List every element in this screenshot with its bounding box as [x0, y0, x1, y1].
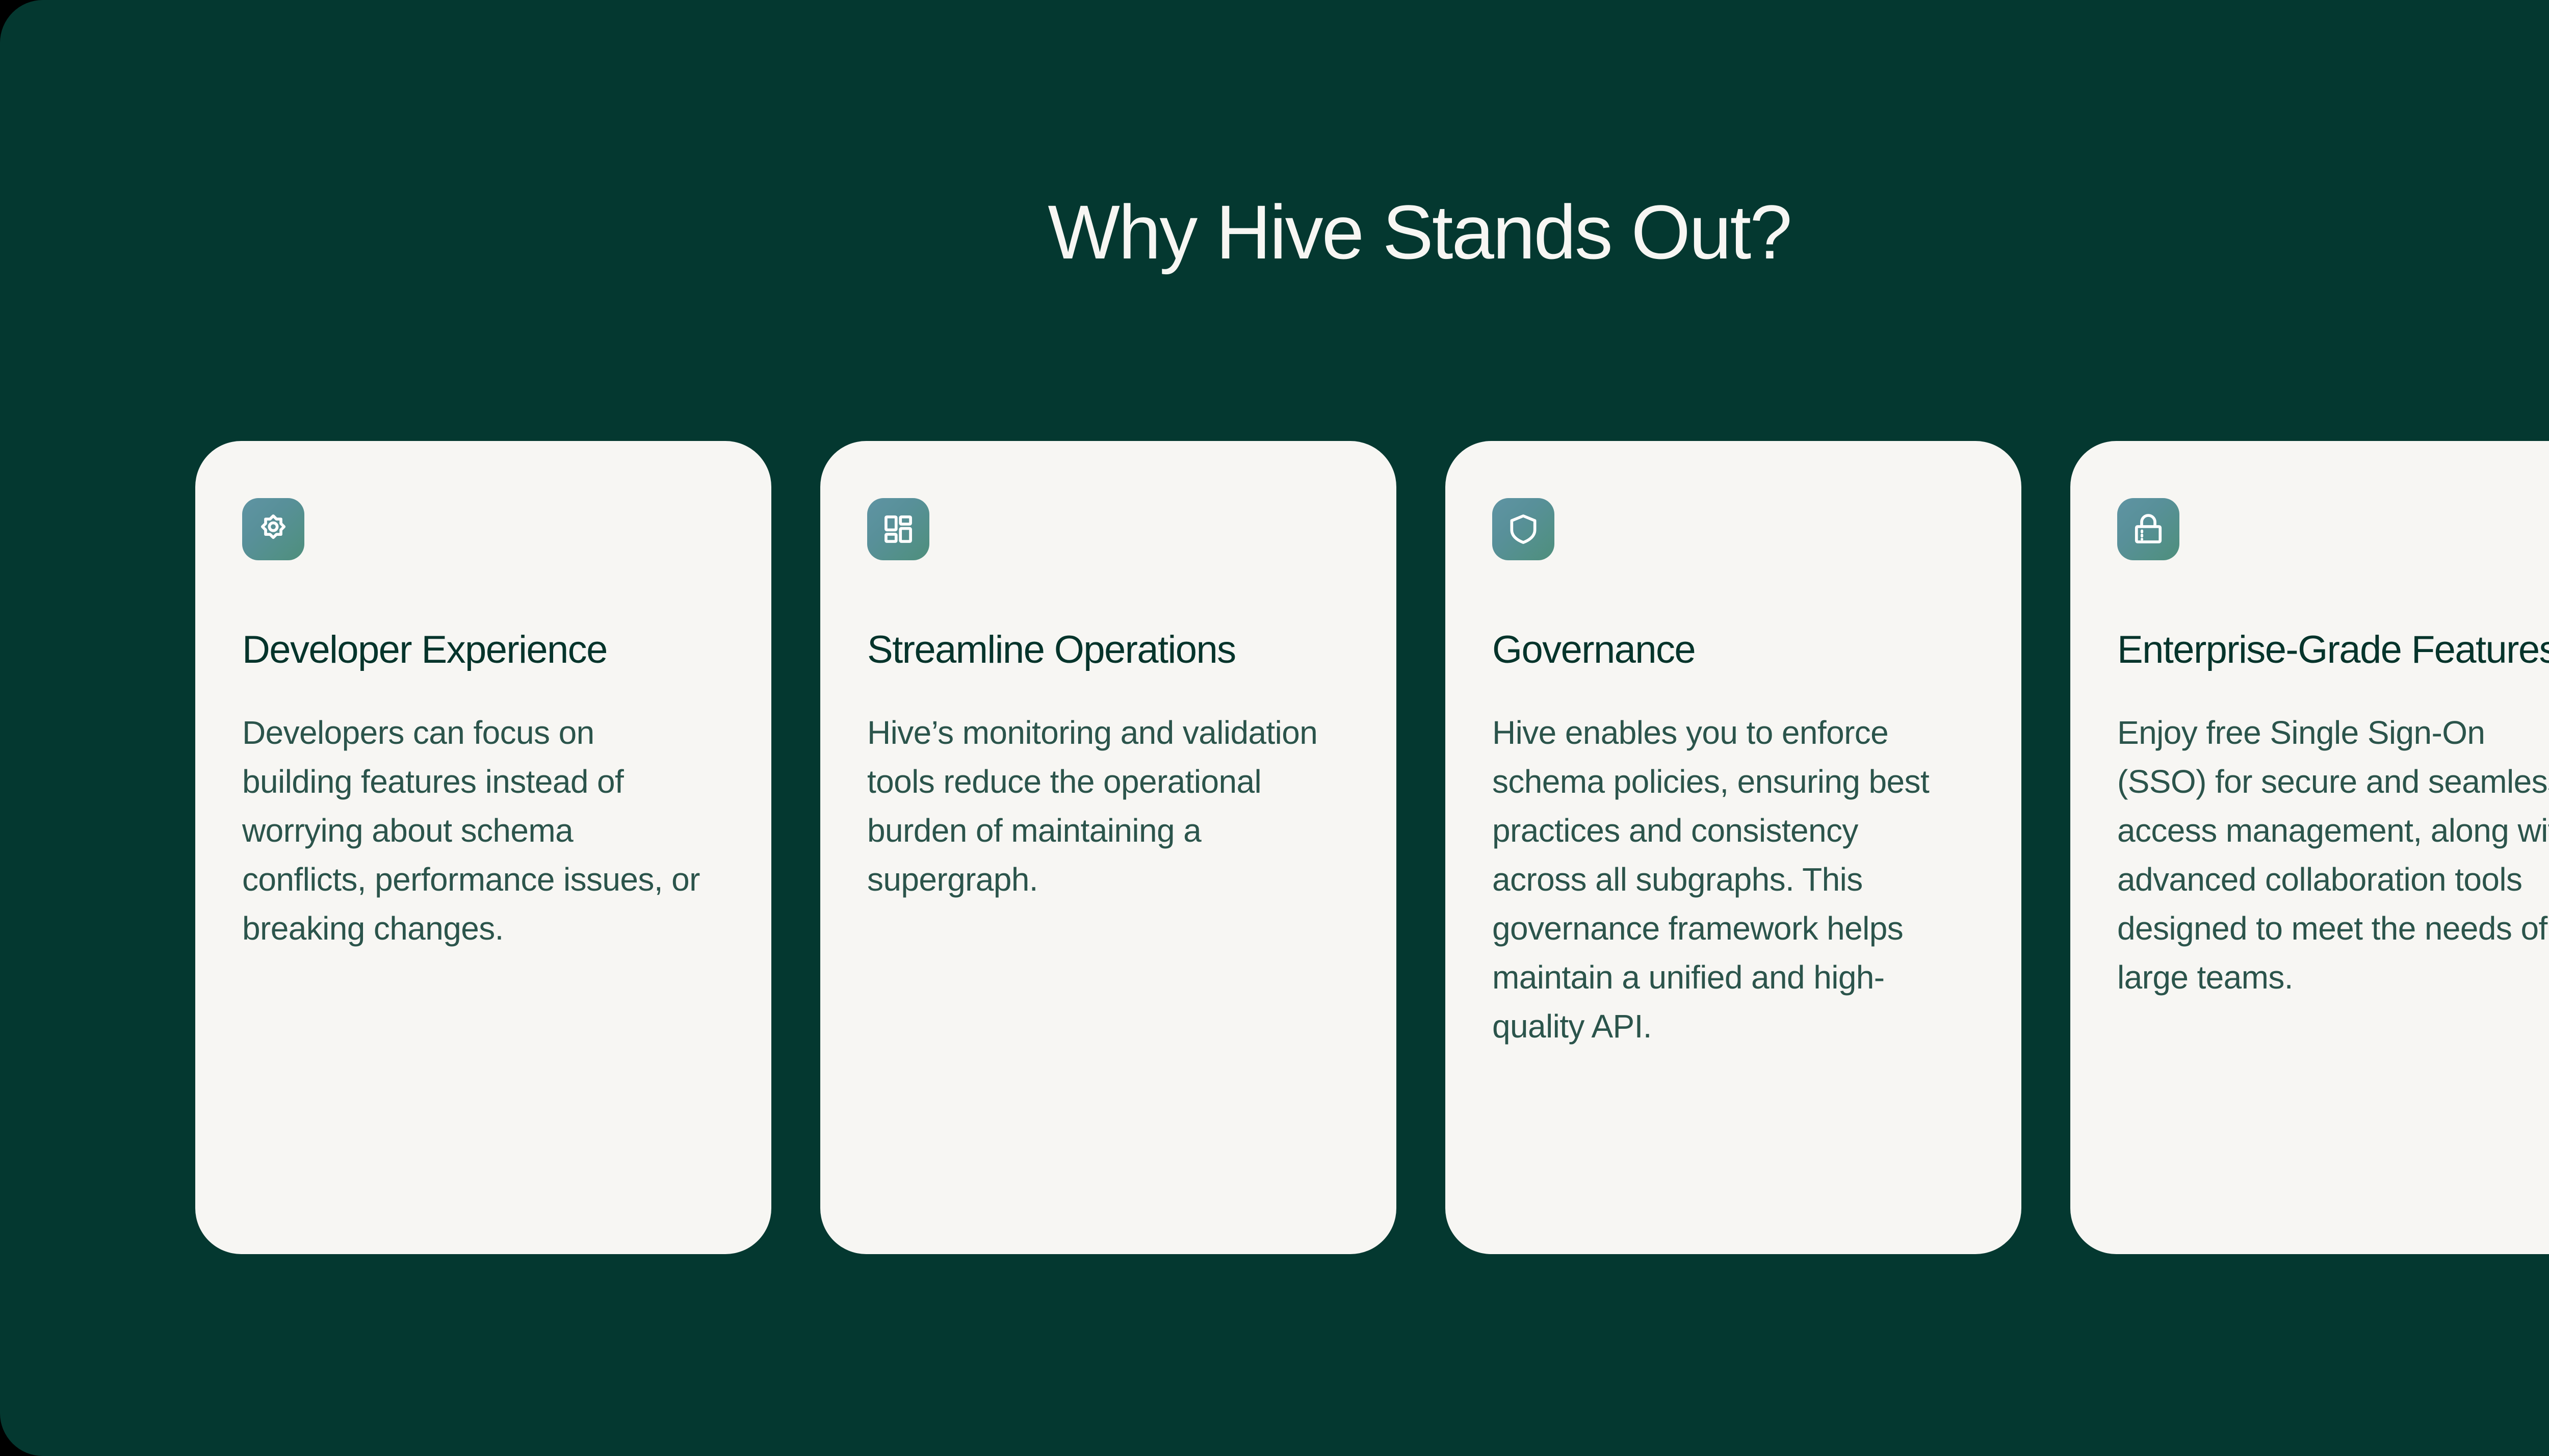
- card-heading: Streamline Operations: [867, 621, 1236, 679]
- card-heading: Enterprise-Grade Features: [2117, 621, 2549, 679]
- card-body: Enjoy free Single Sign-On (SSO) for secu…: [2117, 708, 2549, 1002]
- card-heading: Governance: [1492, 621, 1695, 679]
- feature-card-developer-experience[interactable]: Developer Experience Developers can focu…: [195, 441, 771, 1254]
- feature-section: Why Hive Stands Out? Developer Experienc…: [0, 0, 2549, 1456]
- feature-card-enterprise-grade-features[interactable]: Enterprise-Grade Features Enjoy free Sin…: [2070, 441, 2549, 1254]
- lock-icon: [2117, 498, 2179, 560]
- card-body: Developers can focus on building feature…: [242, 708, 701, 953]
- gear-icon: [242, 498, 304, 560]
- layout-grid-icon: [867, 498, 929, 560]
- feature-card-streamline-operations[interactable]: Streamline Operations Hive’s monitoring …: [820, 441, 1396, 1254]
- card-body: Hive enables you to enforce schema polic…: [1492, 708, 1951, 1051]
- feature-card-list: Developer Experience Developers can focu…: [195, 441, 2549, 1254]
- page-title: Why Hive Stands Out?: [0, 189, 2549, 275]
- feature-card-governance[interactable]: Governance Hive enables you to enforce s…: [1445, 441, 2021, 1254]
- card-heading: Developer Experience: [242, 621, 607, 679]
- card-body: Hive’s monitoring and validation tools r…: [867, 708, 1326, 904]
- shield-icon: [1492, 498, 1554, 560]
